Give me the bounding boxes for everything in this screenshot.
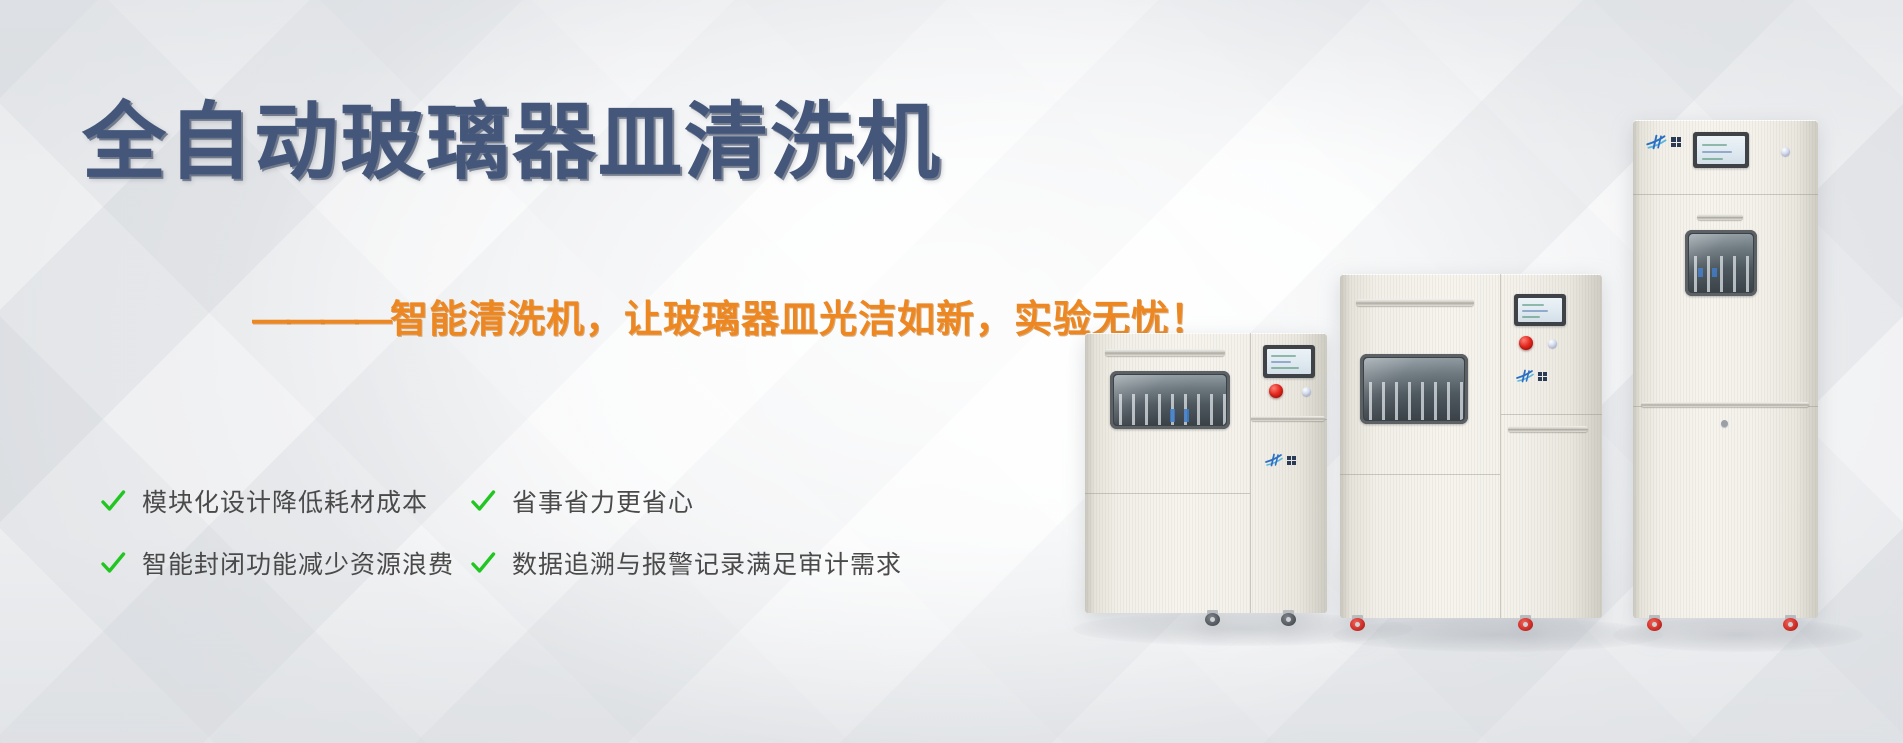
brand-logo [1516, 369, 1547, 383]
subtitle-dash-rule: ———— [252, 299, 388, 341]
check-icon [470, 550, 496, 576]
feature-label: 模块化设计降低耗材成本 [142, 483, 428, 519]
emergency-stop-button[interactable] [1519, 336, 1533, 350]
brand-logo [1265, 453, 1296, 467]
lower-door-latch [1721, 420, 1728, 427]
logo-mark-icon [1646, 134, 1668, 150]
machine-viewing-window [1685, 230, 1757, 296]
logo-squares-icon [1671, 137, 1681, 147]
page-title: 全自动玻璃器皿清洗机 [82, 98, 942, 186]
feature-item-2: 省事省力更省心 [470, 483, 1060, 519]
logo-mark-icon [1516, 369, 1535, 383]
status-indicator-light [1548, 339, 1557, 348]
status-indicator-light [1781, 147, 1790, 156]
window-chamber [1689, 234, 1753, 292]
product-photo-group [1043, 0, 1903, 743]
check-icon [100, 488, 126, 514]
product-image-undercounter-washer [1085, 333, 1327, 613]
screen-text-line [1271, 361, 1290, 363]
banner-copy: 全自动玻璃器皿清洗机 ————智能清洗机，让玻璃器皿光洁如新，实验无忧！ 模块化… [0, 0, 1090, 743]
feature-label: 数据追溯与报警记录满足审计需求 [512, 545, 902, 581]
machine-door-handle [1251, 416, 1325, 421]
screen-text-line [1702, 144, 1727, 146]
screen-text-line [1522, 316, 1540, 318]
logo-squares-icon [1287, 456, 1296, 465]
machine-touchscreen[interactable] [1693, 132, 1749, 168]
machine-touchscreen[interactable] [1263, 345, 1315, 378]
machine-caster-wheel [1518, 615, 1533, 631]
machine-panel-seam [1250, 333, 1251, 613]
screen-text-line [1271, 355, 1296, 357]
feature-label: 智能封闭功能减少资源浪费 [142, 545, 454, 581]
product-image-freestanding-washer [1340, 274, 1602, 618]
machine-door-handle [1697, 214, 1743, 220]
window-chamber [1364, 358, 1464, 420]
screen-text-line [1522, 310, 1548, 312]
machine-caster-wheel [1281, 610, 1296, 626]
machine-panel-seam [1085, 493, 1250, 494]
machine-viewing-window [1110, 371, 1230, 429]
machine-caster-wheel [1350, 615, 1365, 631]
machine-panel-seam [1340, 474, 1500, 475]
feature-item-4: 数据追溯与报警记录满足审计需求 [470, 545, 1060, 581]
touchscreen-display [1697, 136, 1745, 164]
product-image-tall-column-washer [1633, 120, 1818, 618]
brand-logo [1646, 134, 1681, 150]
machine-panel-seam [1500, 274, 1501, 618]
machine-door-handle [1105, 349, 1225, 356]
machine-caster-wheel [1647, 615, 1662, 631]
machine-caster-wheel [1205, 610, 1220, 626]
machine-door-handle [1356, 299, 1474, 306]
machine-caster-wheel [1783, 615, 1798, 631]
check-icon [100, 550, 126, 576]
check-icon [470, 488, 496, 514]
feature-label: 省事省力更省心 [512, 483, 694, 519]
window-reflection [1689, 234, 1753, 292]
feature-item-3: 智能封闭功能减少资源浪费 [100, 545, 470, 581]
machine-door-handle [1508, 426, 1588, 432]
feature-list: 模块化设计降低耗材成本 省事省力更省心 智能封闭功能减少资源浪费 数据追溯与报警… [100, 470, 1060, 594]
emergency-stop-button[interactable] [1269, 384, 1283, 398]
machine-door-handle [1641, 402, 1809, 407]
touchscreen-display [1267, 349, 1311, 374]
logo-mark-icon [1265, 453, 1284, 467]
machine-touchscreen[interactable] [1514, 294, 1566, 326]
touchscreen-display [1518, 298, 1562, 322]
screen-text-line [1702, 158, 1723, 160]
machine-panel-seam [1501, 414, 1602, 415]
window-reflection [1364, 358, 1464, 420]
window-chamber [1114, 375, 1226, 425]
feature-item-1: 模块化设计降低耗材成本 [100, 483, 470, 519]
window-reflection [1114, 375, 1226, 425]
machine-panel-seam [1633, 194, 1818, 195]
product-hero-banner: 全自动玻璃器皿清洗机 ————智能清洗机，让玻璃器皿光洁如新，实验无忧！ 模块化… [0, 0, 1903, 743]
machine-caster-wheel [1103, 610, 1118, 626]
screen-text-line [1522, 304, 1544, 306]
machine-viewing-window [1360, 354, 1468, 424]
status-indicator-light [1302, 387, 1311, 396]
screen-text-line [1271, 367, 1298, 369]
screen-text-line [1702, 151, 1732, 153]
logo-squares-icon [1538, 372, 1547, 381]
